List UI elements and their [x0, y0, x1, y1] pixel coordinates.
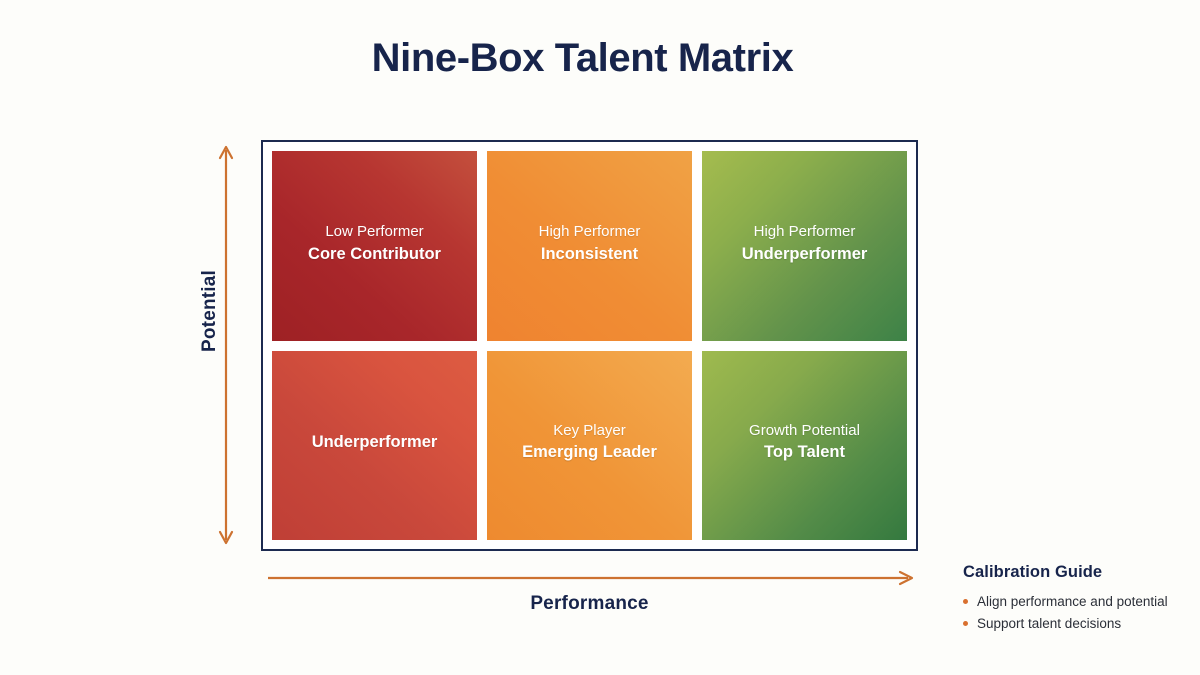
matrix-cell-underperformer-bottom[interactable]: Underperformer — [272, 351, 477, 541]
nine-box-matrix-frame: Low Performer Core Contributor High Perf… — [261, 140, 918, 551]
calibration-guide-item-label: Support talent decisions — [977, 616, 1121, 631]
x-axis-arrow-icon — [266, 570, 918, 586]
cell-label: Core Contributor — [308, 243, 441, 265]
matrix-cell-top-talent[interactable]: Growth Potential Top Talent — [702, 351, 907, 541]
calibration-guide-item: Support talent decisions — [963, 613, 1193, 635]
cell-subtitle: Growth Potential — [749, 421, 860, 441]
calibration-guide-panel: Calibration Guide Align performance and … — [963, 563, 1193, 635]
cell-label: Underperformer — [742, 243, 868, 265]
cell-label: Top Talent — [749, 441, 860, 463]
calibration-guide-heading: Calibration Guide — [963, 563, 1193, 582]
slide-canvas: Nine-Box Talent Matrix Potential Perform… — [0, 0, 1200, 675]
cell-label: Inconsistent — [539, 243, 641, 265]
matrix-cell-emerging-leader[interactable]: Key Player Emerging Leader — [487, 351, 692, 541]
matrix-cell-core-contributor[interactable]: Low Performer Core Contributor — [272, 151, 477, 341]
bullet-icon — [963, 621, 968, 626]
calibration-guide-item: Align performance and potential — [963, 591, 1193, 613]
cell-subtitle: High Performer — [742, 222, 868, 242]
cell-subtitle: Key Player — [522, 421, 657, 441]
cell-subtitle: High Performer — [539, 222, 641, 242]
cell-label: Underperformer — [312, 431, 438, 453]
cell-subtitle: Low Performer — [308, 222, 441, 242]
calibration-guide-item-label: Align performance and potential — [977, 594, 1168, 609]
y-axis-label: Potential — [199, 251, 221, 371]
matrix-cell-underperformer-top[interactable]: High Performer Underperformer — [702, 151, 907, 341]
matrix-grid: Low Performer Core Contributor High Perf… — [272, 151, 907, 540]
cell-label: Emerging Leader — [522, 441, 657, 463]
matrix-cell-inconsistent[interactable]: High Performer Inconsistent — [487, 151, 692, 341]
page-title: Nine-Box Talent Matrix — [0, 36, 1165, 81]
bullet-icon — [963, 599, 968, 604]
x-axis-label: Performance — [261, 593, 918, 615]
